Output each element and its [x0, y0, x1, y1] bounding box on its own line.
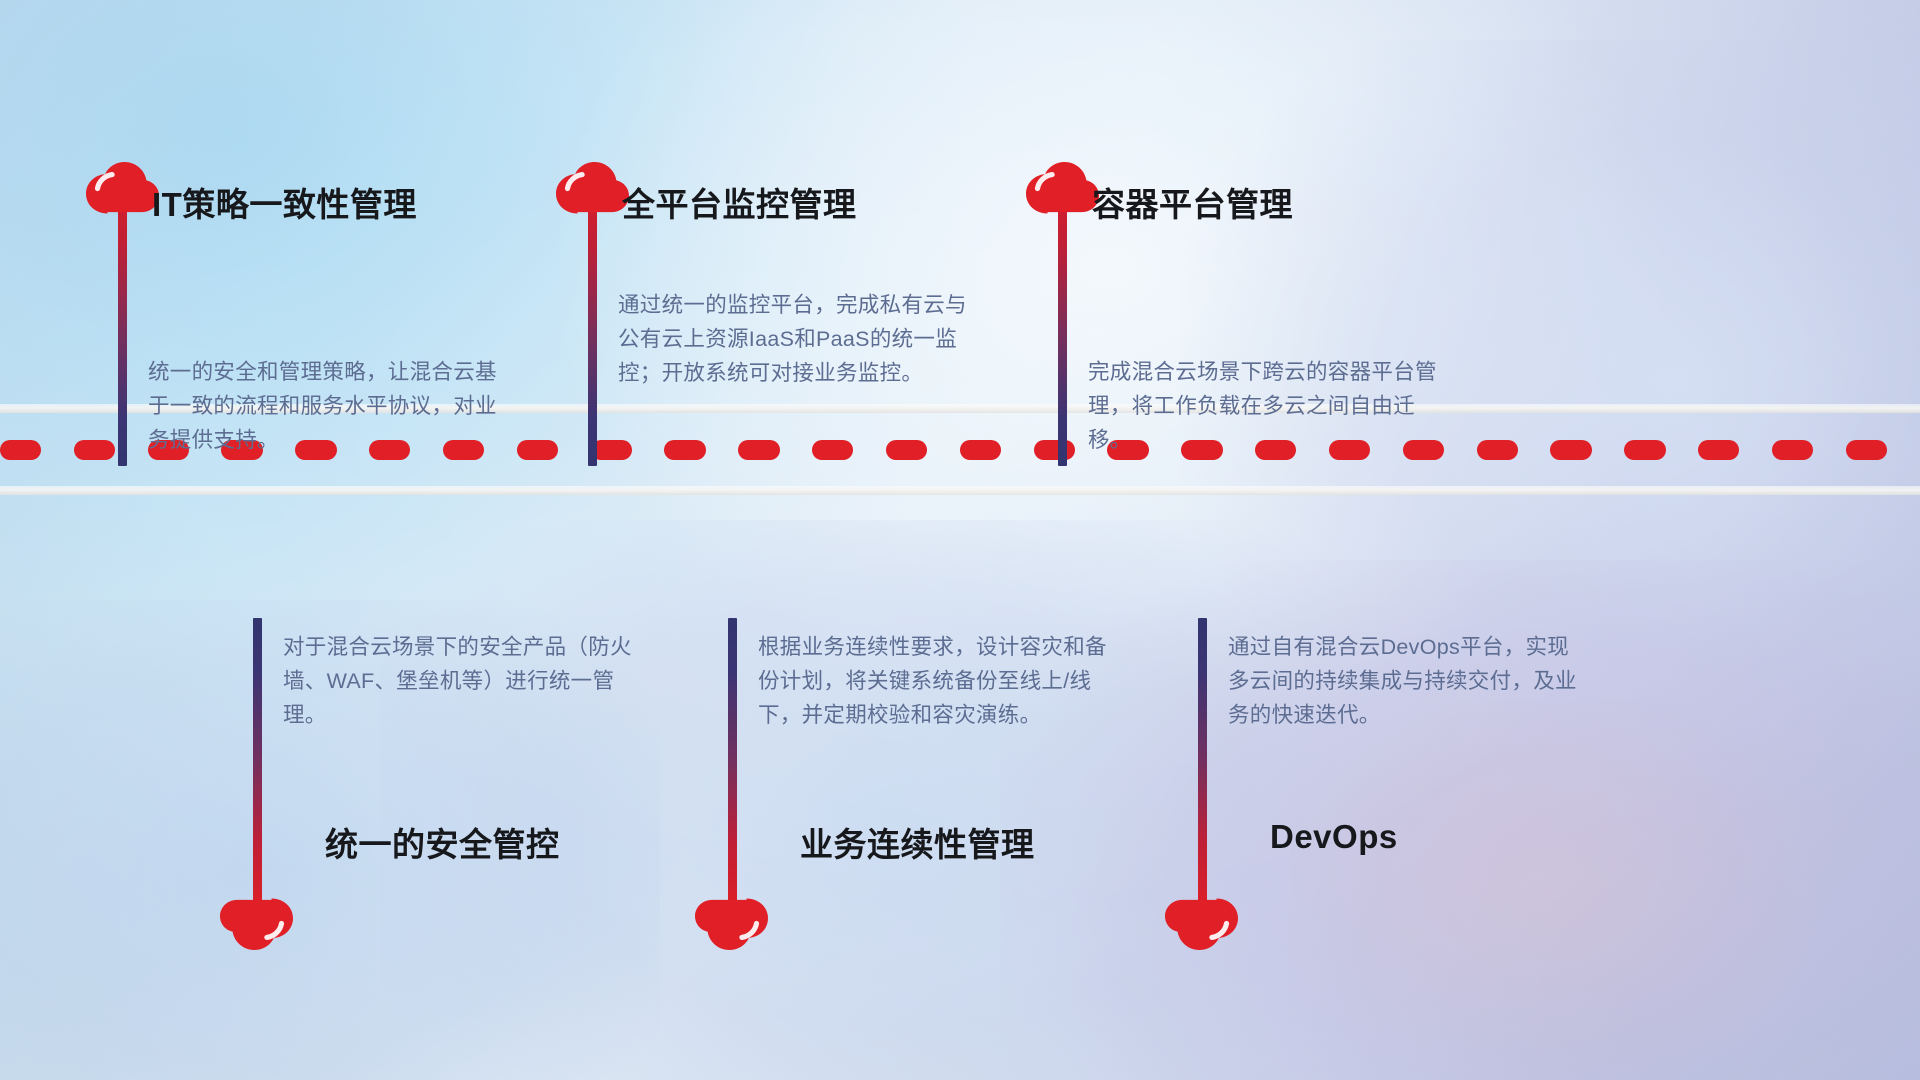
card-title: 全平台监控管理: [622, 178, 857, 226]
road-dash-segment: [886, 440, 927, 460]
card-description: 通过自有混合云DevOps平台，实现多云间的持续集成与持续交付，及业务的快速迭代…: [1228, 630, 1580, 732]
stem-connector: [253, 618, 262, 914]
cloud-icon: [85, 160, 159, 214]
road-dash-segment: [74, 440, 115, 460]
road-dash-segment: [1846, 440, 1887, 460]
road-dash-segment: [664, 440, 705, 460]
road-dash-segment: [1698, 440, 1739, 460]
card-description: 通过统一的监控平台，完成私有云与公有云上资源IaaS和PaaS的统一监控；开放系…: [618, 288, 970, 390]
stem-connector: [728, 618, 737, 914]
road-dash-segment: [812, 440, 853, 460]
road-dash-segment: [1477, 440, 1518, 460]
stem-connector: [1198, 618, 1207, 914]
road-dash-segment: [960, 440, 1001, 460]
road-dash-segment: [1772, 440, 1813, 460]
cloud-icon: [1165, 898, 1239, 952]
road-dash-segment: [0, 440, 41, 460]
card-title: IT策略一致性管理: [152, 178, 417, 226]
card-title: DevOps: [1270, 818, 1398, 856]
infographic-canvas: IT策略一致性管理 统一的安全和管理策略，让混合云基于一致的流程和服务水平协议，…: [0, 0, 1920, 1080]
cloud-icon: [695, 898, 769, 952]
cloud-icon: [1025, 160, 1099, 214]
road-edge-line-bottom: [0, 486, 1920, 495]
card-title: 容器平台管理: [1092, 178, 1293, 226]
card-title: 统一的安全管控: [325, 818, 560, 866]
card-description: 根据业务连续性要求，设计容灾和备份计划，将关键系统备份至线上/线下，并定期校验和…: [758, 630, 1110, 732]
road-dash-segment: [1624, 440, 1665, 460]
road-dash-segment: [1550, 440, 1591, 460]
road-dash-segment: [517, 440, 558, 460]
card-description: 完成混合云场景下跨云的容器平台管理，将工作负载在多云之间自由迁移。: [1088, 355, 1440, 457]
card-title: 业务连续性管理: [800, 818, 1035, 866]
cloud-icon: [220, 898, 294, 952]
road-dash-segment: [1034, 440, 1075, 460]
card-description: 统一的安全和管理策略，让混合云基于一致的流程和服务水平协议，对业务提供支持。: [148, 355, 498, 457]
card-description: 对于混合云场景下的安全产品（防火墙、WAF、堡垒机等）进行统一管理。: [283, 630, 633, 732]
road-dash-segment: [738, 440, 779, 460]
cloud-icon: [555, 160, 629, 214]
